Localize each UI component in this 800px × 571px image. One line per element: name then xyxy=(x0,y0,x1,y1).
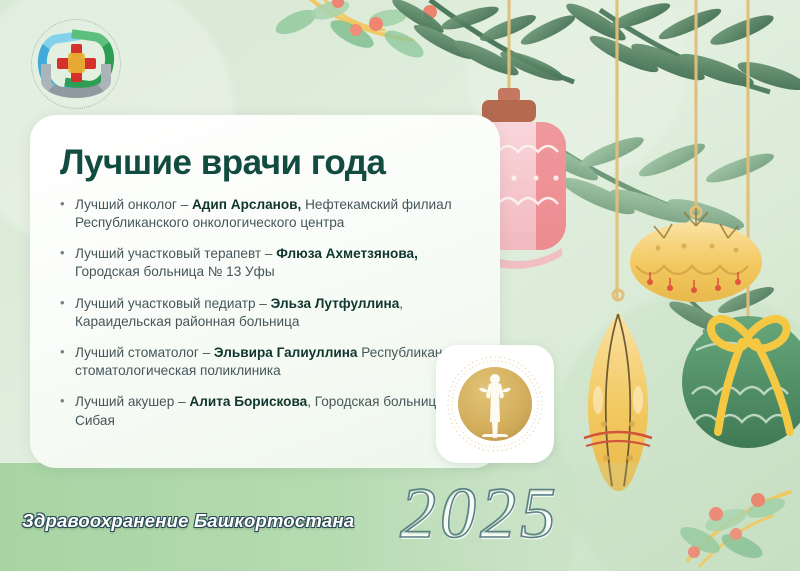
list-item: Лучший акушер – Алита Борискова, Городск… xyxy=(58,393,474,429)
footer-year: 2025 xyxy=(400,477,560,549)
award-name: Эльза Лутфуллина xyxy=(271,296,400,311)
yellow-round-ornament xyxy=(630,207,762,302)
award-org: Городская больница № 13 Уфы xyxy=(75,264,275,279)
medal-icon xyxy=(441,350,549,458)
award-name: Адип Арсланов, xyxy=(192,197,301,212)
logo-emblem-center xyxy=(68,53,85,73)
award-role: Лучший участковый педиатр – xyxy=(75,296,271,311)
list-item: Лучший участковый педиатр – Эльза Лутфул… xyxy=(58,295,474,331)
berry-sprig-top-left xyxy=(272,0,437,63)
award-name: Эльвира Галиуллина xyxy=(214,345,358,360)
gold-teardrop-ornament xyxy=(584,290,652,491)
pine-branch-upper-right xyxy=(563,0,800,96)
list-item: Лучший онколог – Адип Арсланов, Нефтекам… xyxy=(58,196,474,232)
pine-branch-lower-right xyxy=(666,282,800,372)
gold-award-medallion xyxy=(436,345,554,463)
award-role: Лучший онколог – xyxy=(75,197,192,212)
ornament-hanging-strings xyxy=(509,0,748,330)
award-role: Лучший стоматолог – xyxy=(75,345,214,360)
awards-list: Лучший онколог – Адип Арсланов, Нефтекам… xyxy=(58,196,474,430)
poster-canvas: Лучшие врачи года Лучший онколог – Адип … xyxy=(0,0,800,571)
pine-branch-mid-right xyxy=(530,132,776,235)
ministry-of-health-bashkortostan-emblem xyxy=(34,22,118,106)
list-item: Лучший участковый терапевт – Флюза Ахмет… xyxy=(58,245,474,281)
pine-branch-top xyxy=(389,0,578,86)
page-title: Лучшие врачи года xyxy=(60,145,474,182)
award-role: Лучший участковый терапевт – xyxy=(75,246,276,261)
award-role: Лучший акушер – xyxy=(75,394,189,409)
award-name: Флюза Ахметзянова, xyxy=(276,246,418,261)
green-ball-ornament-with-bow xyxy=(682,316,800,448)
award-name: Алита Борискова xyxy=(189,394,307,409)
yellow-bow xyxy=(711,319,790,432)
footer-brand-title: Здравоохранение Башкортостана xyxy=(22,510,354,532)
awards-card: Лучшие врачи года Лучший онколог – Адип … xyxy=(30,115,500,468)
list-item: Лучший стоматолог – Эльвира Галиуллина Р… xyxy=(58,344,474,380)
